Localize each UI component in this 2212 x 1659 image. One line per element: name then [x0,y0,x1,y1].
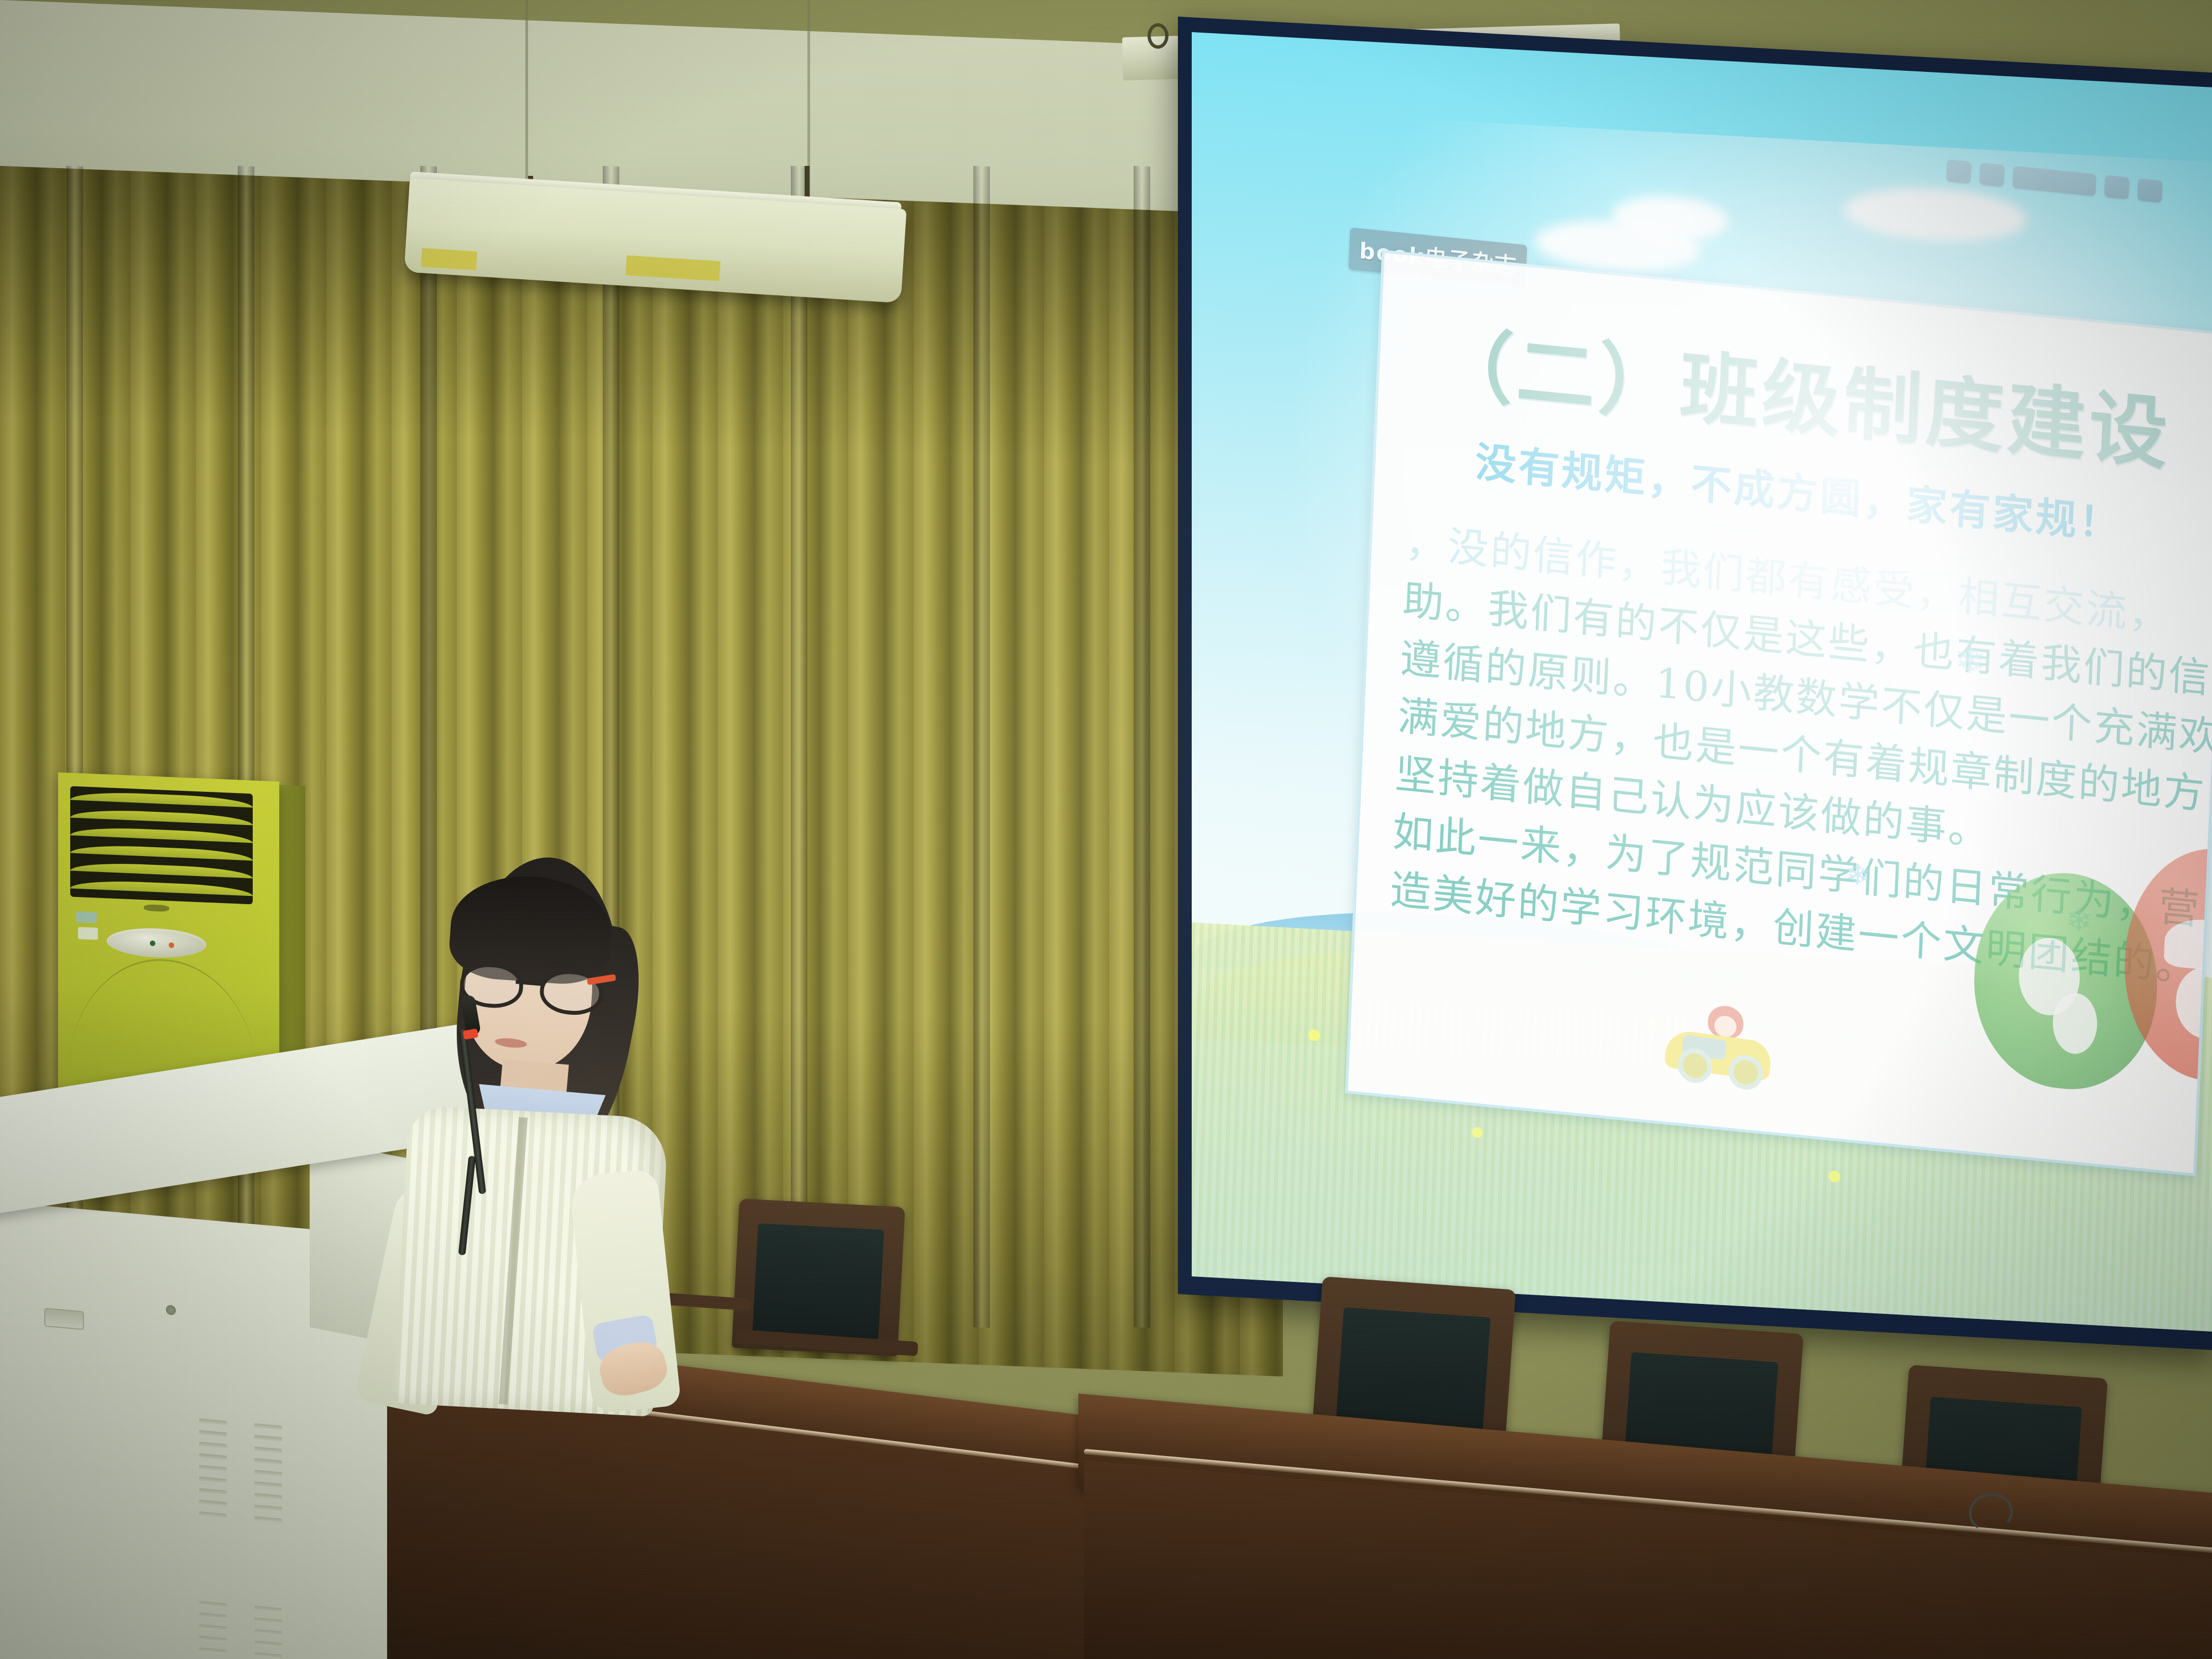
menu-icon[interactable] [2137,179,2163,203]
progress-bar[interactable] [2012,166,2096,196]
podium-vent [199,1418,227,1525]
air-conditioner-sticker [76,911,97,924]
air-conditioner-grille [70,786,253,905]
air-conditioner-sticker [78,927,98,940]
presenter [382,846,669,1399]
curtain-fold [1134,166,1150,1328]
settings-icon[interactable] [2104,175,2130,200]
screen-mount-hook-icon [1147,23,1168,49]
cloud [1844,184,2027,246]
podium-vent [254,1606,282,1659]
power-led [150,941,155,946]
tape-mark [625,255,721,281]
curtain-fold [791,166,807,1328]
back-icon[interactable] [1946,159,1971,184]
podium-vent [254,1423,282,1530]
slide-content-card: （二）班级制度建设 没有规矩，不成方圆，家有家规！ ，没的信作，我们都有感受，相… [1345,250,2212,1176]
snowflake-icon: ❄ [1954,641,1986,680]
air-conditioner-control-panel[interactable] [107,926,206,959]
search-icon[interactable] [1979,163,2005,187]
air-conditioner-logo [144,904,169,912]
status-led [169,942,174,948]
curtain-fold [973,166,990,1328]
podium-handle[interactable] [44,1308,84,1330]
projection-screen: book电子杂志 （二）班级制度建设 没有规矩，不成方圆，家有家规！ ，没的信作… [1192,32,2212,1332]
photo-scene: book电子杂志 （二）班级制度建设 没有规矩，不成方圆，家有家规！ ，没的信作… [0,0,2212,1659]
tape-mark [421,248,477,270]
egg-figure-hat [2163,916,2212,973]
cartoon-child-in-car-icon [1658,998,1780,1090]
snowflake-icon: ❄ [1845,860,1870,891]
podium-vent [199,1601,227,1659]
